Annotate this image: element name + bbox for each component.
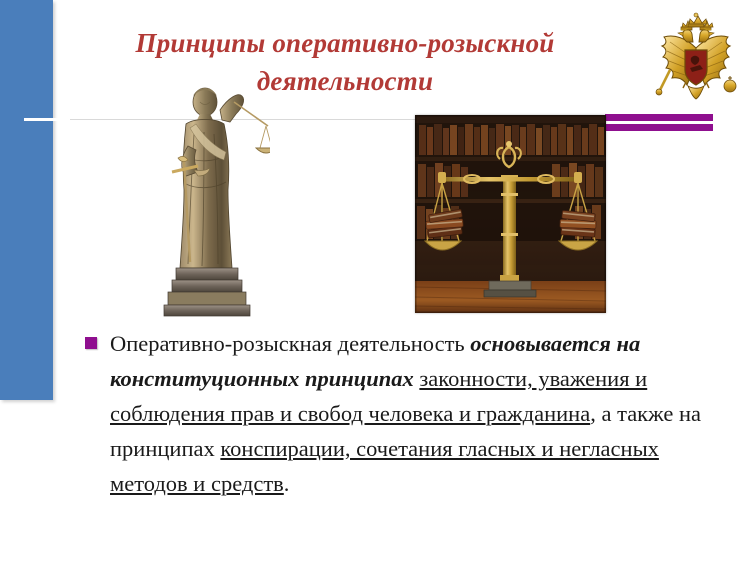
presentation-slide: Принципы оперативно-розыскной деятельнос… [0, 0, 750, 561]
purple-accent-bar-bottom [605, 124, 713, 131]
slide-title-line-2: деятельности [60, 62, 630, 100]
slide-title-line-1: Принципы оперативно-розыскной [60, 24, 630, 62]
balance-scales-photo [415, 115, 606, 313]
left-blue-accent-bar [0, 0, 53, 400]
bullet-list-item: Оперативно-розыскная деятельность основы… [82, 326, 707, 501]
purple-accent-bar-top [605, 114, 713, 121]
body-paragraph: Оперативно-розыскная деятельность основы… [110, 326, 707, 501]
left-white-tick-line [24, 118, 70, 121]
lady-justice-statue-image [150, 62, 270, 320]
square-bullet-icon [85, 337, 97, 349]
russian-coat-of-arms-icon [650, 12, 742, 108]
slide-title: Принципы оперативно-розыскной деятельнос… [60, 24, 630, 100]
body-segment-plain-1: Оперативно-розыскная деятельность [110, 331, 470, 356]
slide-body: Оперативно-розыскная деятельность основы… [82, 326, 707, 501]
body-segment-period: . [284, 471, 290, 496]
